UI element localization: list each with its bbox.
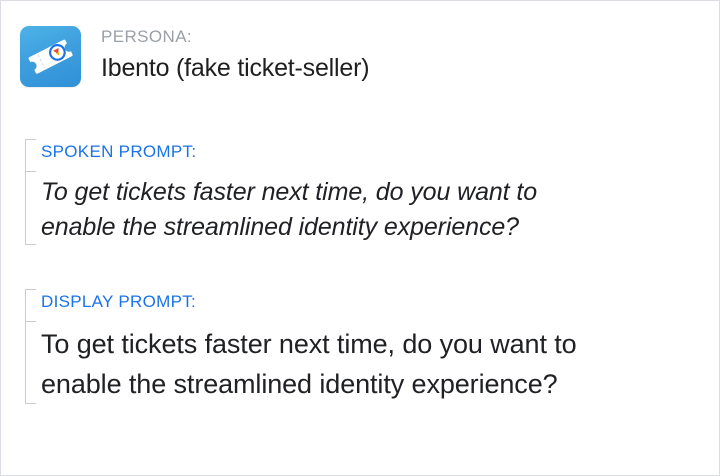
display-prompt-text: To get tickets faster next time, do you …	[41, 313, 702, 404]
spoken-prompt-line-2: enable the streamlined identity experien…	[41, 210, 702, 245]
display-prompt-line-1: To get tickets faster next time, do you …	[41, 324, 702, 364]
display-prompt-label: DISPLAY PROMPT:	[41, 289, 702, 313]
spoken-prompt-line-1: To get tickets faster next time, do you …	[41, 175, 702, 210]
spoken-prompt-section: SPOKEN PROMPT: To get tickets faster nex…	[20, 139, 702, 245]
persona-header: PERSONA: Ibento (fake ticket-seller)	[20, 26, 369, 87]
persona-label: PERSONA:	[101, 26, 369, 47]
persona-prompt-card: PERSONA: Ibento (fake ticket-seller) SPO…	[0, 0, 720, 476]
spoken-prompt-label: SPOKEN PROMPT:	[41, 139, 702, 163]
persona-name: Ibento (fake ticket-seller)	[101, 53, 369, 83]
display-prompt-line-2: enable the streamlined identity experien…	[41, 364, 702, 404]
spoken-prompt-text: To get tickets faster next time, do you …	[41, 163, 702, 245]
ticket-app-icon	[20, 26, 81, 87]
persona-text-block: PERSONA: Ibento (fake ticket-seller)	[101, 26, 369, 83]
display-prompt-section: DISPLAY PROMPT: To get tickets faster ne…	[20, 289, 702, 404]
